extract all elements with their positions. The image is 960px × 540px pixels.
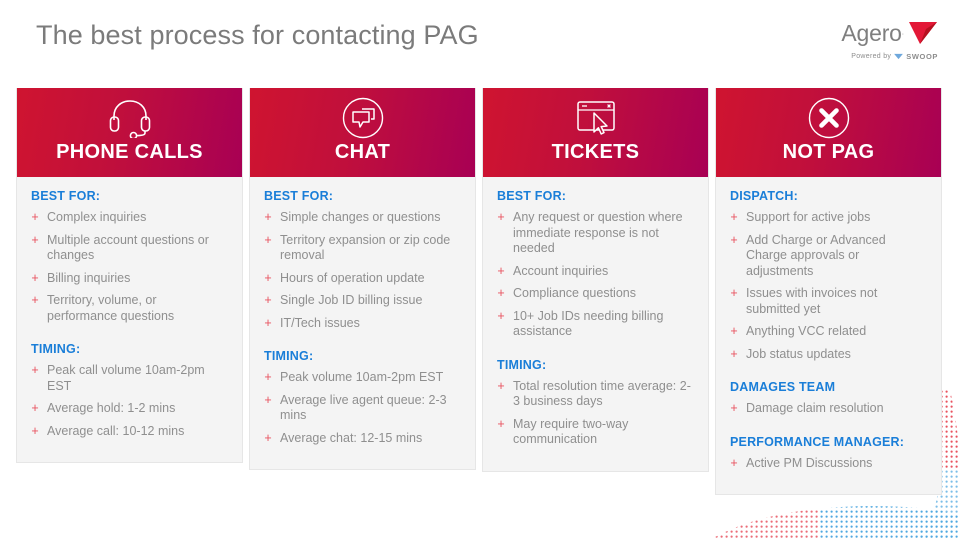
list-item: +Add Charge or Advanced Charge approvals… <box>730 233 927 280</box>
bullet-list: +Peak call volume 10am-2pm EST +Average … <box>31 363 228 439</box>
list-item: +Any request or question where immediate… <box>497 210 694 257</box>
list-item-label: Simple changes or questions <box>280 210 441 226</box>
list-item-label: Active PM Discussions <box>746 456 872 472</box>
list-item: +Multiple account questions or changes <box>31 233 228 264</box>
list-item: +May require two-way communication <box>497 417 694 448</box>
logo-brand-text: Agero <box>841 20 901 46</box>
list-item-label: Multiple account questions or changes <box>47 233 228 264</box>
list-item: +Complex inquiries <box>31 210 228 226</box>
browser-window-cursor-icon <box>573 98 619 138</box>
list-item-label: Complex inquiries <box>47 210 146 226</box>
section-heading: TIMING: <box>264 349 461 363</box>
section-heading: BEST FOR: <box>497 189 694 203</box>
section-heading: PERFORMANCE MANAGER: <box>730 435 927 449</box>
list-item-label: May require two-way communication <box>513 417 694 448</box>
list-item-label: Peak call volume 10am-2pm EST <box>47 363 228 394</box>
plus-icon: + <box>730 456 738 471</box>
powered-by-label: Powered by <box>851 53 891 60</box>
card-header-phone-calls: PHONE CALLS <box>17 88 242 177</box>
list-item-label: Add Charge or Advanced Charge approvals … <box>746 233 927 280</box>
list-item: +Anything VCC related <box>730 324 927 340</box>
list-item-label: Job status updates <box>746 347 851 363</box>
plus-icon: + <box>264 370 272 385</box>
list-item: +Average call: 10-12 mins <box>31 424 228 440</box>
section-damages-team: DAMAGES TEAM +Damage claim resolution <box>730 380 927 417</box>
plus-icon: + <box>264 271 272 286</box>
list-item-label: Total resolution time average: 2-3 busin… <box>513 379 694 410</box>
list-item: +Average chat: 12-15 mins <box>264 431 461 447</box>
list-item: +Hours of operation update <box>264 271 461 287</box>
powered-by-brand: SWOOP <box>906 52 938 61</box>
section-heading: DISPATCH: <box>730 189 927 203</box>
plus-icon: + <box>730 401 738 416</box>
list-item-label: Peak volume 10am-2pm EST <box>280 370 443 386</box>
logo-trademark: . <box>902 28 904 37</box>
list-item-label: 10+ Job IDs needing billing assistance <box>513 309 694 340</box>
list-item-label: Average live agent queue: 2-3 mins <box>280 393 461 424</box>
list-item-label: Territory expansion or zip code removal <box>280 233 461 264</box>
list-item-label: Anything VCC related <box>746 324 866 340</box>
card-header-not-pag: NOT PAG <box>716 88 941 177</box>
bullet-list: +Total resolution time average: 2-3 busi… <box>497 379 694 448</box>
list-item: +Job status updates <box>730 347 927 363</box>
plus-icon: + <box>31 210 39 225</box>
plus-icon: + <box>264 316 272 331</box>
bullet-list: +Simple changes or questions +Territory … <box>264 210 461 331</box>
list-item: +Billing inquiries <box>31 271 228 287</box>
list-item: +10+ Job IDs needing billing assistance <box>497 309 694 340</box>
list-item-label: Any request or question where immediate … <box>513 210 694 257</box>
bullet-list: +Active PM Discussions <box>730 456 927 472</box>
page-title: The best process for contacting PAG <box>36 20 479 51</box>
card-body-not-pag: DISPATCH: +Support for active jobs +Add … <box>716 177 941 494</box>
plus-icon: + <box>497 210 505 225</box>
list-item: +Account inquiries <box>497 264 694 280</box>
section-performance-manager: PERFORMANCE MANAGER: +Active PM Discussi… <box>730 435 927 472</box>
plus-icon: + <box>730 233 738 248</box>
card-body-phone-calls: BEST FOR: +Complex inquiries +Multiple a… <box>17 177 242 462</box>
agero-logo: Agero. Powered by SWOOP <box>810 22 938 74</box>
card-body-tickets: BEST FOR: +Any request or question where… <box>483 177 708 471</box>
section-heading: BEST FOR: <box>31 189 228 203</box>
list-item-label: Average chat: 12-15 mins <box>280 431 422 447</box>
swoop-arrow-icon <box>894 53 903 60</box>
headset-icon <box>107 98 153 138</box>
section-timing: TIMING: +Total resolution time average: … <box>497 358 694 448</box>
plus-icon: + <box>264 293 272 308</box>
card-title: TICKETS <box>552 142 640 162</box>
list-item-label: Account inquiries <box>513 264 608 280</box>
plus-icon: + <box>31 293 39 308</box>
plus-icon: + <box>264 393 272 408</box>
plus-icon: + <box>31 233 39 248</box>
plus-icon: + <box>497 286 505 301</box>
section-timing: TIMING: +Peak call volume 10am-2pm EST +… <box>31 342 228 439</box>
list-item-label: Hours of operation update <box>280 271 425 287</box>
bullet-list: +Support for active jobs +Add Charge or … <box>730 210 927 362</box>
card-chat[interactable]: CHAT BEST FOR: +Simple changes or questi… <box>249 88 476 470</box>
list-item: +Single Job ID billing issue <box>264 293 461 309</box>
list-item: +Territory, volume, or performance quest… <box>31 293 228 324</box>
list-item-label: Damage claim resolution <box>746 401 884 417</box>
card-header-tickets: TICKETS <box>483 88 708 177</box>
list-item-label: Billing inquiries <box>47 271 130 287</box>
plus-icon: + <box>730 347 738 362</box>
plus-icon: + <box>730 324 738 339</box>
logo-wordmark: Agero. <box>841 22 904 46</box>
bullet-list: +Damage claim resolution <box>730 401 927 417</box>
powered-by-row: Powered by SWOOP <box>810 52 938 61</box>
card-title: NOT PAG <box>783 142 875 162</box>
card-phone-calls[interactable]: PHONE CALLS BEST FOR: +Complex inquiries… <box>16 88 243 463</box>
card-header-chat: CHAT <box>250 88 475 177</box>
card-body-chat: BEST FOR: +Simple changes or questions +… <box>250 177 475 469</box>
agero-arrow-icon <box>908 20 938 46</box>
deco-horizontal-swoosh <box>700 500 960 540</box>
section-best-for: BEST FOR: +Any request or question where… <box>497 189 694 340</box>
section-heading: TIMING: <box>497 358 694 372</box>
section-best-for: BEST FOR: +Simple changes or questions +… <box>264 189 461 331</box>
card-tickets[interactable]: TICKETS BEST FOR: +Any request or questi… <box>482 88 709 472</box>
card-row: PHONE CALLS BEST FOR: +Complex inquiries… <box>16 88 946 495</box>
plus-icon: + <box>31 363 39 378</box>
list-item-label: Territory, volume, or performance questi… <box>47 293 228 324</box>
list-item: +Average live agent queue: 2-3 mins <box>264 393 461 424</box>
list-item-label: Single Job ID billing issue <box>280 293 422 309</box>
list-item: +IT/Tech issues <box>264 316 461 332</box>
list-item: +Peak volume 10am-2pm EST <box>264 370 461 386</box>
plus-icon: + <box>730 210 738 225</box>
logo-primary-row: Agero. <box>810 22 938 46</box>
card-not-pag[interactable]: NOT PAG DISPATCH: +Support for active jo… <box>715 88 942 495</box>
section-timing: TIMING: +Peak volume 10am-2pm EST +Avera… <box>264 349 461 446</box>
list-item: +Total resolution time average: 2-3 busi… <box>497 379 694 410</box>
list-item: +Compliance questions <box>497 286 694 302</box>
section-best-for: BEST FOR: +Complex inquiries +Multiple a… <box>31 189 228 324</box>
list-item: +Average hold: 1-2 mins <box>31 401 228 417</box>
bullet-list: +Any request or question where immediate… <box>497 210 694 340</box>
section-heading: BEST FOR: <box>264 189 461 203</box>
bullet-list: +Peak volume 10am-2pm EST +Average live … <box>264 370 461 446</box>
list-item: +Active PM Discussions <box>730 456 927 472</box>
plus-icon: + <box>31 401 39 416</box>
plus-icon: + <box>497 309 505 324</box>
list-item-label: Average hold: 1-2 mins <box>47 401 175 417</box>
circle-x-icon <box>808 98 850 138</box>
section-dispatch: DISPATCH: +Support for active jobs +Add … <box>730 189 927 362</box>
section-heading: DAMAGES TEAM <box>730 380 927 394</box>
plus-icon: + <box>497 379 505 394</box>
card-title: PHONE CALLS <box>56 142 203 162</box>
bullet-list: +Complex inquiries +Multiple account que… <box>31 210 228 324</box>
plus-icon: + <box>264 210 272 225</box>
list-item-label: Compliance questions <box>513 286 636 302</box>
list-item-label: Average call: 10-12 mins <box>47 424 184 440</box>
list-item-label: Support for active jobs <box>746 210 870 226</box>
list-item: +Issues with invoices not submitted yet <box>730 286 927 317</box>
list-item: +Damage claim resolution <box>730 401 927 417</box>
list-item-label: IT/Tech issues <box>280 316 360 332</box>
chat-bubbles-icon <box>342 98 384 138</box>
plus-icon: + <box>264 233 272 248</box>
section-heading: TIMING: <box>31 342 228 356</box>
list-item-label: Issues with invoices not submitted yet <box>746 286 927 317</box>
list-item: +Simple changes or questions <box>264 210 461 226</box>
card-title: CHAT <box>335 142 390 162</box>
list-item: +Peak call volume 10am-2pm EST <box>31 363 228 394</box>
plus-icon: + <box>31 271 39 286</box>
list-item: +Territory expansion or zip code removal <box>264 233 461 264</box>
plus-icon: + <box>730 286 738 301</box>
list-item: +Support for active jobs <box>730 210 927 226</box>
plus-icon: + <box>264 431 272 446</box>
plus-icon: + <box>497 264 505 279</box>
plus-icon: + <box>31 424 39 439</box>
plus-icon: + <box>497 417 505 432</box>
